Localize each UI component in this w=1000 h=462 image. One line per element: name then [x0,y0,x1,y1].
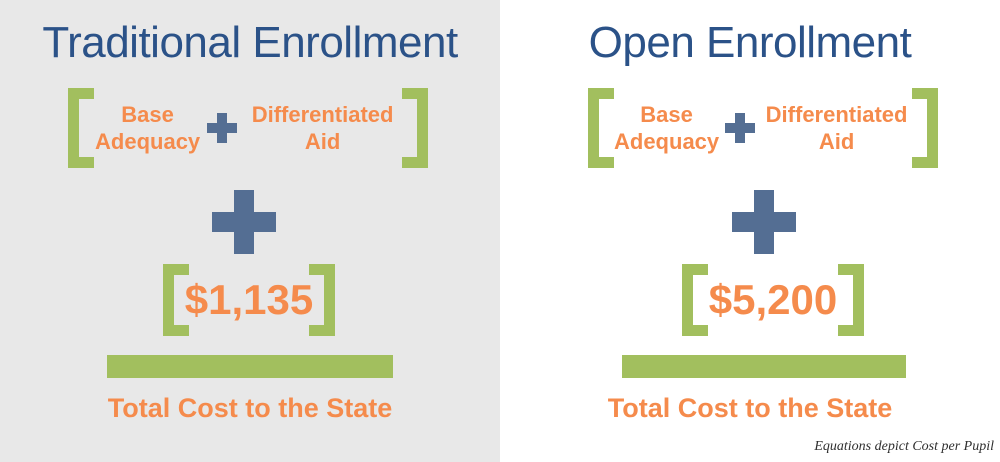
plus-icon-small-open [725,113,755,143]
term-differentiated-aid-traditional: Differentiated Aid [243,101,402,155]
total-bar-traditional [107,355,393,378]
amount-row-open: $5,200 [708,264,838,336]
total-bar-open [622,355,906,378]
term-differentiated-aid-line2: Aid [761,128,912,155]
bracket-right-icon [838,264,864,336]
bracket-group-amount-traditional: $1,135 [163,264,335,336]
bracket-group-formula-open: Base Adequacy Differentiated Aid [588,88,938,168]
panel-open-enrollment: Open Enrollment Base Adequacy Differenti… [500,0,1000,462]
term-base-adequacy-line1: Base [614,101,719,128]
bracket-right-icon [402,88,428,168]
total-caption-traditional: Total Cost to the State [0,392,500,424]
bracket-group-amount-open: $5,200 [682,264,864,336]
infographic-root: Traditional Enrollment Base Adequacy Dif… [0,0,1000,462]
bracket-left-icon [68,88,94,168]
bracket-group-formula-traditional: Base Adequacy Differentiated Aid [68,88,428,168]
equation-row-open: Base Adequacy Differentiated Aid [614,88,912,168]
term-base-adequacy-traditional: Base Adequacy [94,101,201,155]
bracket-left-icon [682,264,708,336]
term-base-adequacy-line2: Adequacy [94,128,201,155]
amount-value-open: $5,200 [709,278,837,322]
plus-icon-small-traditional [207,113,237,143]
term-differentiated-aid-line1: Differentiated [243,101,402,128]
total-caption-open: Total Cost to the State [500,392,1000,424]
footnote-text: Equations depict Cost per Pupil [814,438,994,456]
term-base-adequacy-line2: Adequacy [614,128,719,155]
term-differentiated-aid-line1: Differentiated [761,101,912,128]
bracket-left-icon [588,88,614,168]
panel-title-open: Open Enrollment [500,18,1000,68]
term-base-adequacy-open: Base Adequacy [614,101,719,155]
term-differentiated-aid-open: Differentiated Aid [761,101,912,155]
plus-icon-large-traditional [212,190,276,254]
bracket-right-icon [912,88,938,168]
panel-traditional-enrollment: Traditional Enrollment Base Adequacy Dif… [0,0,500,462]
equation-row-traditional: Base Adequacy Differentiated Aid [94,88,402,168]
plus-icon-large-open [732,190,796,254]
term-differentiated-aid-line2: Aid [243,128,402,155]
panel-title-traditional: Traditional Enrollment [0,18,500,68]
amount-value-traditional: $1,135 [185,278,313,322]
term-base-adequacy-line1: Base [94,101,201,128]
amount-row-traditional: $1,135 [189,264,309,336]
